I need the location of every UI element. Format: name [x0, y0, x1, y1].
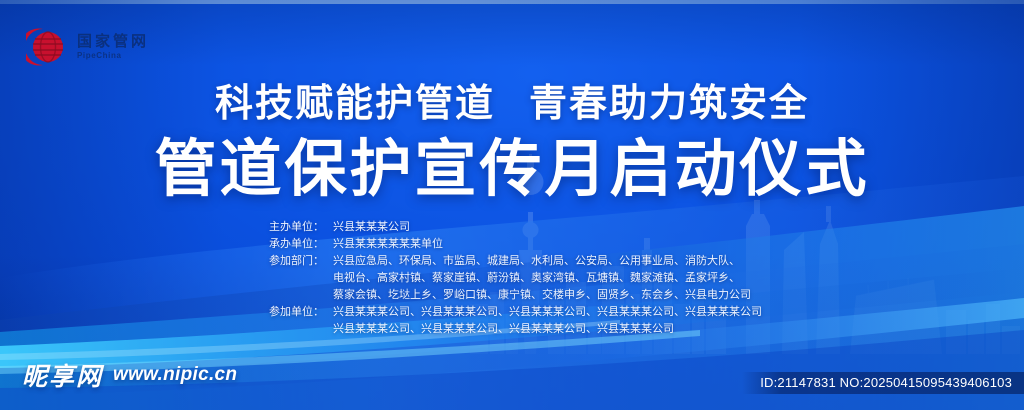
- brand-logo: 国家管网 PipeChina: [26, 26, 149, 68]
- logo-english-name: PipeChina: [77, 52, 149, 60]
- credit-value: 兴县应急局、环保局、市监局、城建局、水利局、公安局、公用事业局、消防大队、 电视…: [333, 252, 755, 303]
- credit-row-organizer: 主办单位： 兴县某某某公司: [269, 218, 755, 235]
- logo-wordmark: 国家管网 PipeChina: [77, 34, 149, 60]
- banner-canvas: 国家管网 PipeChina 科技赋能护管道青春助力筑安全 管道保护宣传月启动仪…: [0, 0, 1024, 410]
- asset-id-label: ID:21147831 NO:20250415095439406103: [742, 372, 1024, 394]
- credits-list: 主办单位： 兴县某某某公司 承办单位： 兴县某某某某某某单位 参加部门： 兴县应…: [269, 218, 755, 337]
- credit-value: 兴县某某某公司: [333, 218, 755, 235]
- credit-label: 主办单位：: [269, 218, 333, 235]
- credit-line: 兴县某某某公司: [333, 218, 755, 235]
- watermark-brand: 昵享网: [22, 357, 103, 393]
- credit-value: 兴县某某某某某某单位: [333, 235, 755, 252]
- watermark-url: www.nipic.cn: [113, 364, 237, 386]
- credit-row-departments: 参加部门： 兴县应急局、环保局、市监局、城建局、水利局、公安局、公用事业局、消防…: [269, 252, 755, 303]
- credit-line: 电视台、高家村镇、蔡家崖镇、蔚汾镇、奥家湾镇、瓦塘镇、魏家滩镇、孟家坪乡、: [333, 269, 755, 286]
- subheadline-right: 青春助力筑安全: [529, 81, 809, 125]
- credit-line: 兴县应急局、环保局、市监局、城建局、水利局、公安局、公用事业局、消防大队、: [333, 252, 755, 269]
- background-vignette: [0, 0, 1024, 410]
- credit-row-participants: 参加单位： 兴县某某某公司、兴县某某某公司、兴县某某某公司、兴县某某某公司、兴县…: [269, 303, 755, 337]
- subheadline: 科技赋能护管道青春助力筑安全: [0, 72, 1024, 127]
- credit-line: 蔡家会镇、圪垯上乡、罗峪口镇、康宁镇、交楼申乡、固贤乡、东会乡、兴县电力公司: [333, 286, 755, 303]
- subheadline-left: 科技赋能护管道: [215, 81, 495, 125]
- credit-label: 参加单位：: [269, 303, 333, 320]
- headline-block: 科技赋能护管道青春助力筑安全 管道保护宣传月启动仪式: [0, 72, 1024, 203]
- credit-row-host: 承办单位： 兴县某某某某某某单位: [269, 235, 755, 252]
- credits-block: 主办单位： 兴县某某某公司 承办单位： 兴县某某某某某某单位 参加部门： 兴县应…: [0, 218, 1024, 337]
- credit-label: 承办单位：: [269, 235, 333, 252]
- pipechina-globe-icon: [26, 26, 68, 68]
- credit-label: 参加部门：: [269, 252, 333, 269]
- logo-chinese-name: 国家管网: [77, 34, 149, 49]
- credit-line: 兴县某某某某某某单位: [333, 235, 755, 252]
- site-watermark: 昵享网 www.nipic.cn: [22, 357, 237, 393]
- credit-line: 兴县某某某公司、兴县某某某公司、兴县某某某公司、兴县某某某公司、兴县某某某公司: [333, 303, 762, 320]
- main-title: 管道保护宣传月启动仪式: [0, 136, 1024, 203]
- credit-line: 兴县某某某公司、兴县某某某公司、兴县某某某公司、兴县某某某公司: [333, 320, 762, 337]
- credit-value: 兴县某某某公司、兴县某某某公司、兴县某某某公司、兴县某某某公司、兴县某某某公司 …: [333, 303, 762, 337]
